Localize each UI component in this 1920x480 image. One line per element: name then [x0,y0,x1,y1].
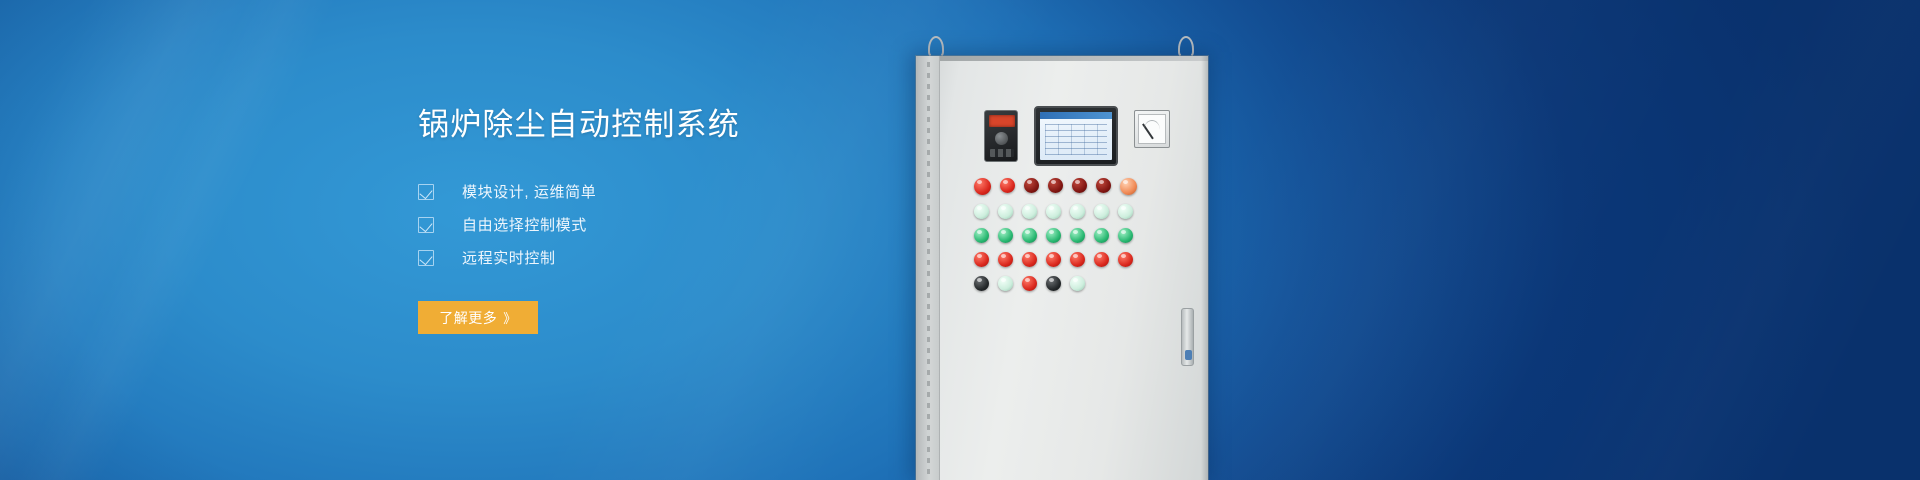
lamp-red [1118,252,1133,267]
lamp-green [1022,228,1037,243]
checkbox-check-icon [418,250,434,266]
hmi-screen [1040,112,1112,160]
lamp-green [1118,228,1133,243]
checkbox-check-icon [418,217,434,233]
product-photo [900,0,1320,480]
lamp-green [974,228,989,243]
lamp-green-pale [1022,204,1037,219]
lamp-row [974,252,1166,267]
vfd-knob-icon [995,132,1008,145]
streak-2 [0,0,405,480]
streak-5 [1445,0,1920,480]
lamp-green-pale [998,276,1013,291]
lamp-red [998,252,1013,267]
indicator-lamp-grid [974,178,1166,300]
chevron-right-icon: 》 [503,308,517,327]
vfd-display-icon [984,110,1018,162]
lamp-red [1094,252,1109,267]
lamp-green [1094,228,1109,243]
hmi-touchscreen-panel [1034,106,1118,166]
feature-label: 模块设计, 运维简单 [462,181,596,202]
page-title: 锅炉除尘自动控制系统 [418,104,938,146]
lamp-red-dark [1096,178,1111,193]
feature-label: 远程实时控制 [462,247,556,268]
lamp-green [1046,228,1061,243]
lamp-green-pale [1070,204,1085,219]
meter-face [1138,114,1166,144]
cabinet-top-edge [918,56,1208,61]
learn-more-button[interactable]: 了解更多 》 [418,301,538,334]
lamp-red-dark [1072,178,1087,193]
learn-more-label: 了解更多 [439,308,497,328]
lamp-green-pale [974,204,989,219]
lamp-orange [1120,178,1137,195]
lamp-green [998,228,1013,243]
streak-1 [0,0,365,480]
lamp-green [1070,228,1085,243]
list-item: 模块设计, 运维简单 [418,175,938,208]
lamp-red [1046,252,1061,267]
lamp-row [974,276,1166,291]
lamp-red-dark [1048,178,1063,193]
lamp-green-pale [998,204,1013,219]
lamp-black [974,276,989,291]
lamp-green-pale [1046,204,1061,219]
lamp-red [1000,178,1015,193]
lamp-row [974,204,1166,219]
lamp-black [1046,276,1061,291]
hero-banner: 锅炉除尘自动控制系统 模块设计, 运维简单 自由选择控制模式 远程实时控制 了解… [0,0,1920,480]
list-item: 远程实时控制 [418,241,938,274]
vfd-screen [989,115,1015,127]
lamp-red-dark [1024,178,1039,193]
cabinet-right-edge [1201,56,1208,480]
lamp-red [1070,252,1085,267]
lamp-red [1022,252,1037,267]
lamp-green-pale [1094,204,1109,219]
feature-label: 自由选择控制模式 [462,214,587,235]
lamp-red [974,252,989,267]
control-cabinet [916,56,1208,480]
lamp-green-pale [1118,204,1133,219]
feature-list: 模块设计, 运维简单 自由选择控制模式 远程实时控制 [418,175,938,274]
lamp-green-pale [1070,276,1085,291]
lamp-red [1022,276,1037,291]
analog-meter-icon [1134,110,1170,148]
vfd-buttons [990,149,1014,157]
lamp-red [974,178,991,195]
lamp-row [974,228,1166,243]
banner-copy: 锅炉除尘自动控制系统 模块设计, 运维简单 自由选择控制模式 远程实时控制 了解… [418,104,938,334]
checkbox-check-icon [418,184,434,200]
list-item: 自由选择控制模式 [418,208,938,241]
lamp-row [974,178,1166,195]
cabinet-door-handle[interactable] [1181,308,1194,366]
